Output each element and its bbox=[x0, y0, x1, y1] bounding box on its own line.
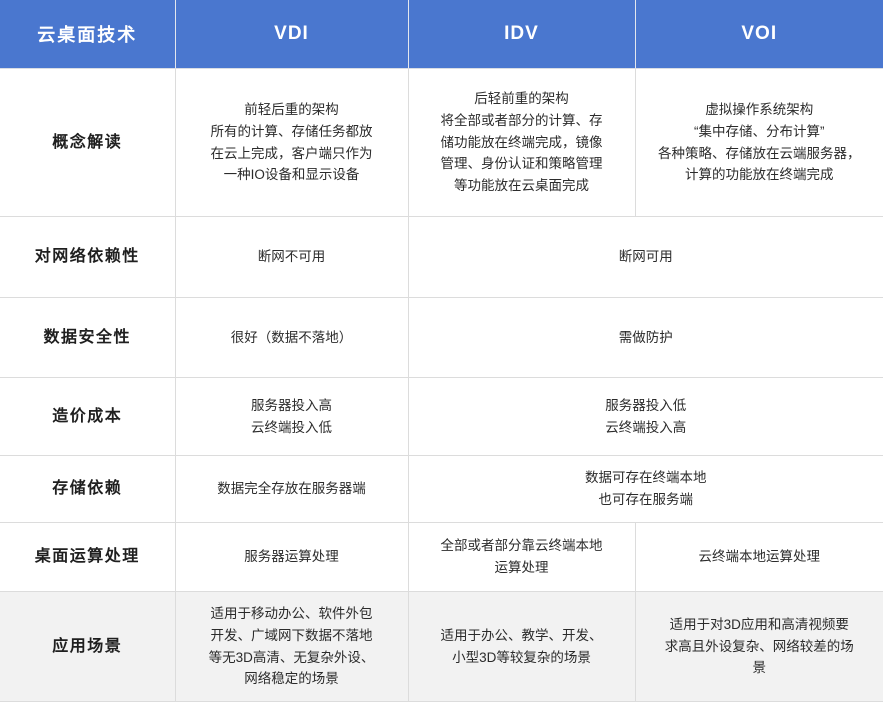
header-row: 云桌面技术 VDI IDV VOI bbox=[0, 0, 883, 69]
table-header: 云桌面技术 VDI IDV VOI bbox=[0, 0, 883, 69]
header-cell-label: 云桌面技术 bbox=[0, 0, 175, 69]
table-row: 应用场景 适用于移动办公、软件外包 开发、广域网下数据不落地 等无3D高清、无复… bbox=[0, 592, 883, 702]
table-row: 数据安全性 很好（数据不落地） 需做防护 bbox=[0, 298, 883, 378]
cloud-desktop-comparison-table: 云桌面技术 VDI IDV VOI 概念解读 前轻后重的架构 所有的计算、存储任… bbox=[0, 0, 883, 702]
cell-compute-idv: 全部或者部分靠云终端本地 运算处理 bbox=[408, 523, 635, 592]
cell-scenario-idv: 适用于办公、教学、开发、 小型3D等较复杂的场景 bbox=[408, 592, 635, 702]
cell-concept-vdi: 前轻后重的架构 所有的计算、存储任务都放 在云上完成，客户端只作为 一种IO设备… bbox=[175, 69, 408, 217]
cell-compute-vdi: 服务器运算处理 bbox=[175, 523, 408, 592]
table-body: 概念解读 前轻后重的架构 所有的计算、存储任务都放 在云上完成，客户端只作为 一… bbox=[0, 69, 883, 702]
table-row: 造价成本 服务器投入高 云终端投入低 服务器投入低 云终端投入高 bbox=[0, 378, 883, 456]
cell-storage-idv-voi-merged: 数据可存在终端本地 也可存在服务端 bbox=[408, 456, 883, 523]
table-row: 对网络依赖性 断网不可用 断网可用 bbox=[0, 217, 883, 298]
cell-network-idv-voi-merged: 断网可用 bbox=[408, 217, 883, 298]
cell-security-idv-voi-merged: 需做防护 bbox=[408, 298, 883, 378]
row-label-network: 对网络依赖性 bbox=[0, 217, 175, 298]
cell-cost-idv-voi-merged: 服务器投入低 云终端投入高 bbox=[408, 378, 883, 456]
cell-concept-voi: 虚拟操作系统架构 “集中存储、分布计算” 各种策略、存储放在云端服务器， 计算的… bbox=[635, 69, 883, 217]
row-label-security: 数据安全性 bbox=[0, 298, 175, 378]
row-label-scenario: 应用场景 bbox=[0, 592, 175, 702]
cell-compute-voi: 云终端本地运算处理 bbox=[635, 523, 883, 592]
cell-concept-idv: 后轻前重的架构 将全部或者部分的计算、存 储功能放在终端完成，镜像 管理、身份认… bbox=[408, 69, 635, 217]
table-row: 概念解读 前轻后重的架构 所有的计算、存储任务都放 在云上完成，客户端只作为 一… bbox=[0, 69, 883, 217]
cell-cost-vdi: 服务器投入高 云终端投入低 bbox=[175, 378, 408, 456]
header-cell-voi: VOI bbox=[635, 0, 883, 69]
row-label-concept: 概念解读 bbox=[0, 69, 175, 217]
cell-scenario-voi: 适用于对3D应用和高清视频要 求高且外设复杂、网络较差的场 景 bbox=[635, 592, 883, 702]
table-row: 桌面运算处理 服务器运算处理 全部或者部分靠云终端本地 运算处理 云终端本地运算… bbox=[0, 523, 883, 592]
row-label-compute: 桌面运算处理 bbox=[0, 523, 175, 592]
table-row: 存储依赖 数据完全存放在服务器端 数据可存在终端本地 也可存在服务端 bbox=[0, 456, 883, 523]
header-cell-idv: IDV bbox=[408, 0, 635, 69]
cell-scenario-vdi: 适用于移动办公、软件外包 开发、广域网下数据不落地 等无3D高清、无复杂外设、 … bbox=[175, 592, 408, 702]
cell-network-vdi: 断网不可用 bbox=[175, 217, 408, 298]
row-label-cost: 造价成本 bbox=[0, 378, 175, 456]
cell-security-vdi: 很好（数据不落地） bbox=[175, 298, 408, 378]
header-cell-vdi: VDI bbox=[175, 0, 408, 69]
cell-storage-vdi: 数据完全存放在服务器端 bbox=[175, 456, 408, 523]
row-label-storage: 存储依赖 bbox=[0, 456, 175, 523]
